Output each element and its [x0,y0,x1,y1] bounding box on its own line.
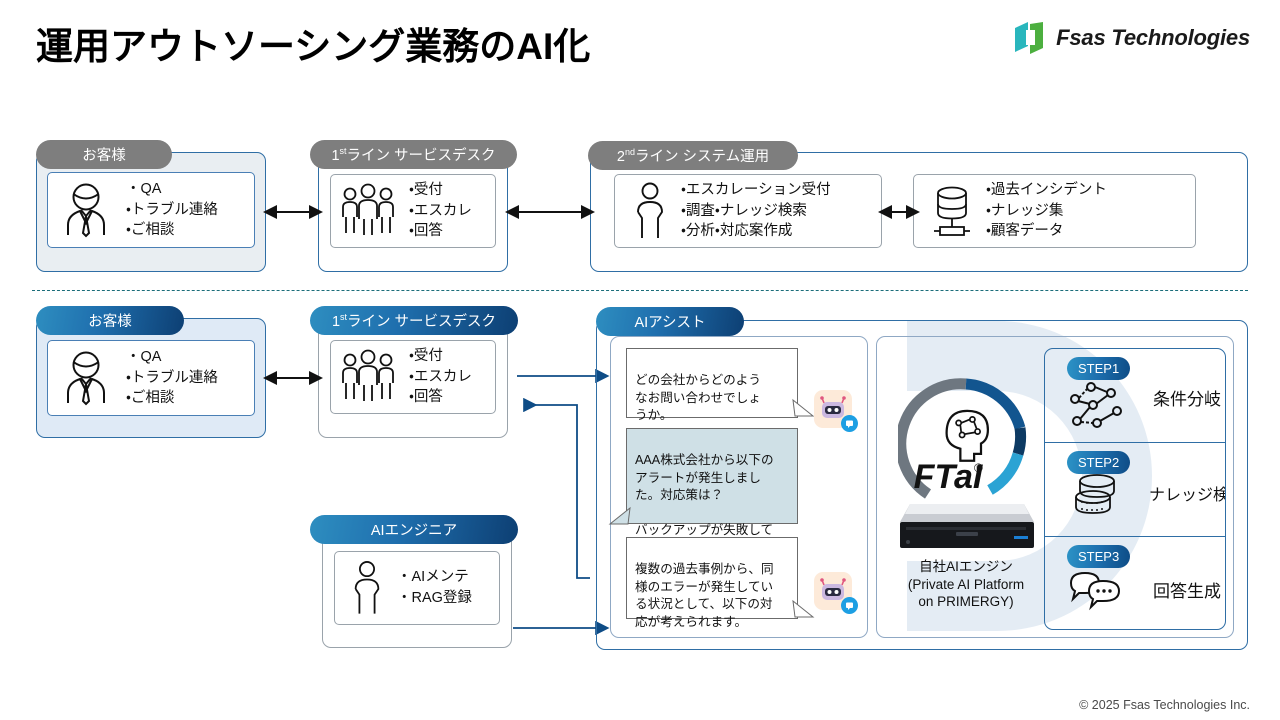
copyright: © 2025 Fsas Technologies Inc. [1079,698,1250,712]
chat-badge-icon [841,415,858,432]
person-icon [349,560,385,616]
bullet-line: ・ご相談 [126,388,218,409]
engine-caption-line-2: (Private AI Platform [886,576,1046,594]
top-customer-bullets: ・QA・トラブル連絡・ご相談 [126,179,218,241]
ai-engineer-pill-label: AIエンジニア [371,519,457,540]
bottom-firstline-bullets: ・受付・エスカレ・回答 [409,346,472,408]
top-arrow-ops-data [884,202,914,222]
top-customer-pill-label: お客様 [82,144,126,165]
bottom-customer-bullets: ・QA・トラブル連絡・ご相談 [126,347,218,409]
ai-assist-pill-label: AIアシスト [634,311,705,332]
ai-engineer-pill: AIエンジニア [310,515,518,544]
bottom-arrow-customer-firstline [268,368,318,388]
bullet-line: ・分析・対応案作成 [681,221,831,242]
top-secondline-pill: 2ndライン システム運用 [588,141,798,170]
person-suit-icon [60,181,112,239]
brand-name: Fsas Technologies [1056,25,1250,51]
bullet-line: ・回答 [409,387,472,408]
step-row-2: STEP2 ナレッジ検索 [1045,442,1225,535]
top-firstline-card: ・受付・エスカレ・回答 [330,174,496,248]
top-firstline-bullets: ・受付・エスカレ・回答 [409,180,472,242]
bullet-line: ・トラブル連絡 [126,200,218,221]
node-graph-icon [1067,379,1129,436]
bullet-line: ・受付 [409,346,472,367]
top-arrow-firstline-secondline [510,202,590,222]
bottom-customer-pill-label: お客様 [88,310,132,331]
chat-bubble-ai-1: どの会社からどのよう なお問い合わせでしょ うか。 [626,348,798,418]
engine-caption: 自社AIエンジン (Private AI Platform on PRIMERG… [886,558,1046,611]
bullet-line: ・QA [126,347,218,368]
bullet-line: ・調査・ナレッジ検索 [681,201,831,222]
bullet-line: ・トラブル連絡 [126,368,218,389]
ai-engineer-bullets: ・AIメンテ・RAG登録 [397,567,472,608]
top-firstline-pill-label: 1stライン サービスデスク [331,144,495,165]
ai-engineer-card: ・AIメンテ・RAG登録 [334,551,500,625]
bottom-firstline-card: ・受付・エスカレ・回答 [330,340,496,414]
bullet-line: ・過去インシデント [986,180,1107,201]
steps-panel: STEP1 条件 [1044,348,1226,630]
avatar-robot-2 [814,572,852,610]
chat-bubble-user-1: AAA株式会社から以下の アラートが発生しまし た。対応策は？ バックアップが失… [626,428,798,524]
page-title: 運用アウトソーシング業務のAI化 [36,16,590,70]
slide-canvas: 運用アウトソーシング業務のAI化 Fsas Technologies © 202… [0,0,1280,720]
section-divider [32,290,1248,291]
bullet-line: ・QA [126,179,218,200]
bullet-line: ・エスカレ [409,367,472,388]
avatar-robot-1 [814,390,852,428]
brand-logo: Fsas Technologies [1015,22,1250,54]
step-1-badge: STEP1 [1067,357,1130,380]
bottom-customer-card: ・QA・トラブル連絡・ご相談 [47,340,255,416]
step-1-label: 条件分岐 [1153,385,1221,410]
bullet-line: ・顧客データ [986,221,1107,242]
bottom-customer-pill: お客様 [36,306,184,335]
chat-bubbles-icon [1067,571,1127,618]
three-people-icon [339,349,397,405]
bullet-line: ・ご相談 [126,220,218,241]
top-customer-card: ・QA・トラブル連絡・ご相談 [47,172,255,248]
three-people-icon [339,183,397,239]
bullet-line: ・RAG登録 [397,588,472,609]
top-data-bullets: ・過去インシデント・ナレッジ集・顧客データ [986,180,1107,242]
bullet-line: ・受付 [409,180,472,201]
top-ops-bullets: ・エスカレーション受付・調査・ナレッジ検索・分析・対応案作成 [681,180,831,242]
engine-caption-line-3: on PRIMERGY) [886,593,1046,611]
top-data-card: ・過去インシデント・ナレッジ集・顧客データ [913,174,1196,248]
top-ops-card: ・エスカレーション受付・調査・ナレッジ検索・分析・対応案作成 [614,174,882,248]
chat-bubble-ai-2: 複数の過去事例から、同 様のエラーが発生してい る状況として、以下の対 応が考え… [626,537,798,619]
database-icon [930,183,974,239]
top-firstline-pill: 1stライン サービスデスク [310,140,517,169]
bottom-firstline-pill-label: 1stライン サービスデスク [332,310,496,331]
step-2-label: ナレッジ検索 [1149,481,1226,505]
chat-bubble-ai-2-tail [793,601,815,621]
step-3-label: 回答生成 [1153,577,1221,602]
chat-bubble-ai-1-tail [793,400,815,420]
step-row-1: STEP1 条件 [1045,349,1225,442]
bullet-line: ・回答 [409,221,472,242]
step-row-3: STEP3 回答生成 [1045,536,1225,629]
engine-caption-line-1: 自社AIエンジン [886,558,1046,576]
chat-badge-icon [841,597,858,614]
bottom-firstline-pill: 1stライン サービスデスク [310,306,518,335]
ai-assist-pill: AIアシスト [596,307,744,336]
top-secondline-pill-label: 2ndライン システム運用 [617,145,769,166]
top-customer-pill: お客様 [36,140,172,169]
database-stack-icon [1069,471,1125,528]
bullet-line: ・AIメンテ [397,567,472,588]
ftai-engine: FTaI ® 自社AIエンジン (Private AI Platform on … [886,344,1046,630]
chat-bubble-user-1-tail [610,508,630,528]
bullet-line: ・エスカレーション受付 [681,180,831,201]
svg-text:®: ® [974,461,983,475]
top-arrow-customer-firstline [268,202,318,222]
chat-bubble-ai-1-text: どの会社からどのよう なお問い合わせでしょ うか。 [635,373,761,422]
bullet-line: ・ナレッジ集 [986,201,1107,222]
step-3-badge: STEP3 [1067,545,1130,568]
bullet-line: ・エスカレ [409,201,472,222]
bottom-arrow-flow-lines [505,360,610,640]
chat-bubble-ai-2-text: 複数の過去事例から、同 様のエラーが発生してい る状況として、以下の対 応が考え… [635,562,774,628]
server-image-icon [896,492,1038,554]
person-icon [631,182,669,240]
person-suit-icon [60,349,112,407]
fsas-logo-icon [1015,22,1045,54]
